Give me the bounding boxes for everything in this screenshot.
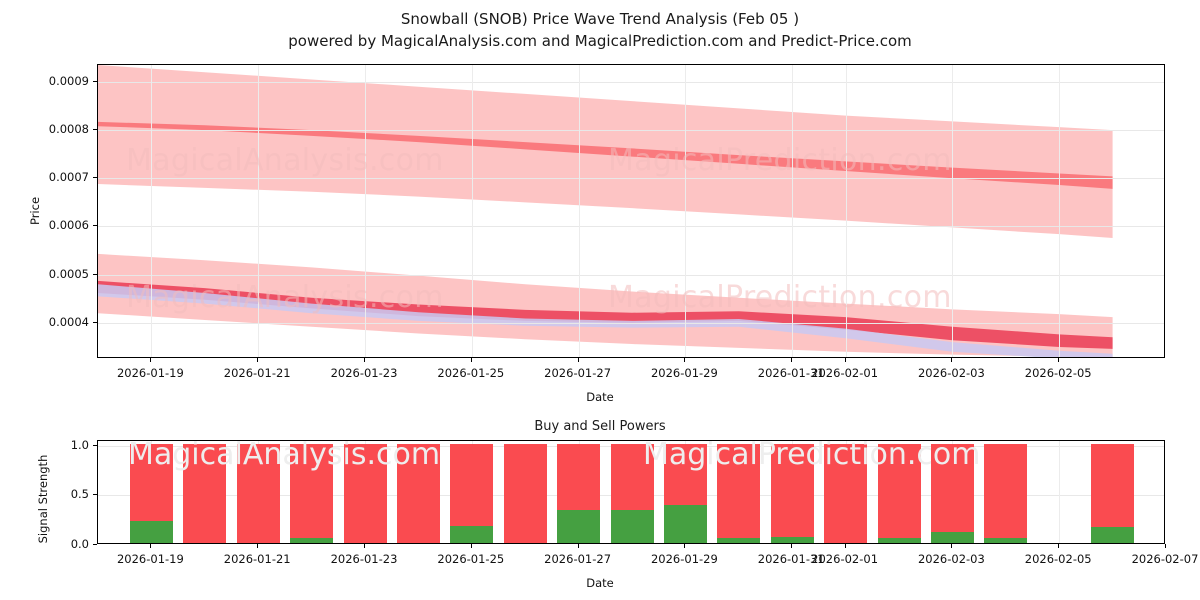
gridline: [472, 65, 473, 357]
signal-bar[interactable]: [344, 444, 387, 543]
buy-power-segment: [450, 526, 493, 543]
signal-bar[interactable]: [183, 444, 226, 543]
price-y-tick-label: 0.0004: [49, 315, 89, 329]
power-x-tick-mark: [150, 544, 151, 548]
price-x-tick-mark: [1058, 358, 1059, 362]
signal-bar[interactable]: [611, 444, 654, 543]
buy-power-segment: [611, 510, 654, 543]
page-subtitle: powered by MagicalAnalysis.com and Magic…: [0, 30, 1200, 52]
page-title: Snowball (SNOB) Price Wave Trend Analysi…: [0, 8, 1200, 30]
gridline: [685, 65, 686, 357]
gridline: [1059, 65, 1060, 357]
price-x-tick-mark: [951, 358, 952, 362]
buy-power-segment: [557, 510, 600, 543]
price-y-tick-label: 0.0009: [49, 74, 89, 88]
price-x-tick-label: 2026-01-27: [544, 366, 611, 380]
price-x-tick-label: 2026-02-03: [918, 366, 985, 380]
sell-power-segment: [450, 444, 493, 526]
buy-power-segment: [931, 532, 974, 543]
sell-power-segment: [130, 444, 173, 521]
price-y-tick-label: 0.0006: [49, 218, 89, 232]
chart-title-block: Snowball (SNOB) Price Wave Trend Analysi…: [0, 8, 1200, 52]
power-x-tick-mark: [1165, 544, 1166, 548]
signal-bar[interactable]: [664, 444, 707, 543]
gridline: [579, 65, 580, 357]
sell-power-segment: [931, 444, 974, 532]
power-x-tick-label: 2026-01-29: [651, 552, 718, 566]
gridline: [1059, 441, 1060, 543]
signal-bar[interactable]: [397, 444, 440, 543]
buy-power-segment: [290, 538, 333, 543]
power-x-tick-mark: [845, 544, 846, 548]
price-x-tick-mark: [257, 358, 258, 362]
signal-bar[interactable]: [984, 444, 1027, 543]
signal-bar[interactable]: [878, 444, 921, 543]
power-x-tick-label: 2026-02-05: [1025, 552, 1092, 566]
power-x-tick-mark: [791, 544, 792, 548]
power-y-axis-label: Signal Strength: [36, 444, 50, 554]
power-x-tick-label: 2026-01-23: [331, 552, 398, 566]
price-y-tick-label: 0.0008: [49, 122, 89, 136]
power-x-tick-label: 2026-01-25: [437, 552, 504, 566]
power-y-tick-mark: [93, 544, 97, 545]
signal-bar[interactable]: [557, 444, 600, 543]
sell-power-segment: [397, 444, 440, 543]
price-x-tick-mark: [364, 358, 365, 362]
power-x-tick-label: 2026-01-21: [224, 552, 291, 566]
price-wave-plot: MagicalAnalysis.com MagicalPrediction.co…: [97, 64, 1165, 358]
price-x-tick-mark: [150, 358, 151, 362]
power-y-tick-label: 0.0: [71, 537, 89, 551]
sell-power-segment: [824, 444, 867, 543]
price-y-tick-mark: [93, 129, 97, 130]
power-x-tick-mark: [364, 544, 365, 548]
sell-power-segment: [557, 444, 600, 510]
price-x-tick-label: 2026-01-29: [651, 366, 718, 380]
sell-power-segment: [290, 444, 333, 538]
signal-bar[interactable]: [290, 444, 333, 543]
sell-power-segment: [984, 444, 1027, 538]
price-x-tick-mark: [791, 358, 792, 362]
price-y-tick-label: 0.0005: [49, 267, 89, 281]
signal-bar[interactable]: [771, 444, 814, 543]
sell-power-segment: [664, 444, 707, 505]
sell-power-segment: [504, 444, 547, 543]
gridline: [952, 65, 953, 357]
power-y-tick-mark: [93, 445, 97, 446]
price-x-tick-mark: [471, 358, 472, 362]
power-x-tick-label: 2026-02-03: [918, 552, 985, 566]
signal-bar[interactable]: [237, 444, 280, 543]
price-y-tick-mark: [93, 81, 97, 82]
power-y-tick-label: 0.5: [71, 487, 89, 501]
price-x-tick-label: 2026-01-21: [224, 366, 291, 380]
signal-bar[interactable]: [504, 444, 547, 543]
power-x-tick-label: 2026-02-01: [811, 552, 878, 566]
sell-power-segment: [344, 444, 387, 543]
watermark-power-left: MagicalAnalysis.com: [128, 440, 440, 472]
gridline: [365, 65, 366, 357]
power-x-tick-mark: [1058, 544, 1059, 548]
gridline: [792, 65, 793, 357]
power-y-tick-label: 1.0: [71, 438, 89, 452]
power-x-tick-label: 2026-01-19: [117, 552, 184, 566]
power-x-tick-label: 2026-02-07: [1132, 552, 1199, 566]
signal-bar[interactable]: [1091, 444, 1134, 543]
sell-power-segment: [611, 444, 654, 510]
price-x-tick-mark: [578, 358, 579, 362]
price-y-axis-label: Price: [28, 171, 42, 251]
buy-sell-plot: MagicalAnalysis.com MagicalPrediction.co…: [97, 440, 1165, 544]
sell-power-segment: [717, 444, 760, 538]
power-x-tick-label: 2026-01-27: [544, 552, 611, 566]
buy-power-segment: [984, 538, 1027, 543]
sell-power-segment: [183, 444, 226, 543]
gridline: [846, 65, 847, 357]
signal-bar[interactable]: [931, 444, 974, 543]
price-x-tick-label: 2026-01-25: [437, 366, 504, 380]
price-y-tick-mark: [93, 274, 97, 275]
price-x-tick-label: 2026-01-23: [331, 366, 398, 380]
sell-power-segment: [237, 444, 280, 543]
power-x-axis-label: Date: [0, 576, 1200, 590]
gridline: [258, 65, 259, 357]
power-x-tick-mark: [684, 544, 685, 548]
power-x-tick-mark: [951, 544, 952, 548]
buy-power-segment: [771, 537, 814, 543]
price-x-tick-label: 2026-01-19: [117, 366, 184, 380]
sell-power-segment: [1091, 444, 1134, 527]
price-x-tick-mark: [684, 358, 685, 362]
price-y-tick-mark: [93, 322, 97, 323]
price-x-tick-mark: [845, 358, 846, 362]
signal-bar[interactable]: [450, 444, 493, 543]
buy-power-segment: [130, 521, 173, 543]
price-y-tick-mark: [93, 225, 97, 226]
price-x-axis-label: Date: [0, 390, 1200, 404]
buy-power-segment: [878, 538, 921, 543]
signal-bar[interactable]: [824, 444, 867, 543]
power-x-tick-mark: [471, 544, 472, 548]
buy-sell-title: Buy and Sell Powers: [0, 419, 1200, 434]
price-x-tick-label: 2026-02-05: [1025, 366, 1092, 380]
buy-power-segment: [717, 538, 760, 543]
sell-power-segment: [771, 444, 814, 537]
power-x-tick-mark: [257, 544, 258, 548]
price-y-tick-label: 0.0007: [49, 170, 89, 184]
buy-power-segment: [664, 505, 707, 543]
sell-power-segment: [878, 444, 921, 538]
power-x-tick-mark: [578, 544, 579, 548]
buy-power-segment: [1091, 527, 1134, 543]
power-y-tick-mark: [93, 494, 97, 495]
gridline: [151, 65, 152, 357]
signal-bar[interactable]: [717, 444, 760, 543]
price-y-tick-mark: [93, 177, 97, 178]
price-x-tick-label: 2026-02-01: [811, 366, 878, 380]
signal-bar[interactable]: [130, 444, 173, 543]
